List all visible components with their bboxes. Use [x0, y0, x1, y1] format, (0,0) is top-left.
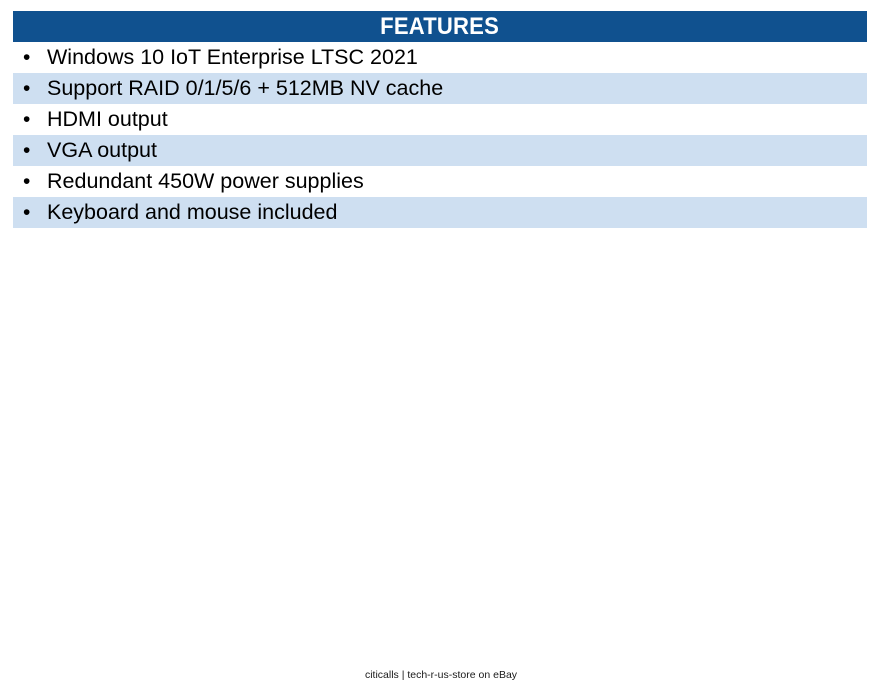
- bullet-icon: •: [22, 47, 47, 68]
- bullet-icon: •: [22, 109, 47, 130]
- feature-text: HDMI output: [47, 108, 168, 131]
- slide-footer: citicalls | tech-r-us-store on eBay: [0, 665, 882, 683]
- table-row: • Windows 10 IoT Enterprise LTSC 2021: [13, 42, 867, 73]
- feature-text: Redundant 450W power supplies: [47, 170, 364, 193]
- page-title: FEATURES: [381, 15, 500, 39]
- feature-text: VGA output: [47, 139, 157, 162]
- features-table-header: FEATURES: [13, 11, 867, 42]
- slide-canvas: FEATURES • Windows 10 IoT Enterprise LTS…: [0, 0, 882, 699]
- table-row: • Redundant 450W power supplies: [13, 166, 867, 197]
- bullet-icon: •: [22, 78, 47, 99]
- table-row: • VGA output: [13, 135, 867, 166]
- features-table: FEATURES • Windows 10 IoT Enterprise LTS…: [13, 11, 867, 228]
- table-row: • Keyboard and mouse included: [13, 197, 867, 228]
- bullet-icon: •: [22, 202, 47, 223]
- feature-text: Windows 10 IoT Enterprise LTSC 2021: [47, 46, 418, 69]
- feature-text: Keyboard and mouse included: [47, 201, 337, 224]
- feature-text: Support RAID 0/1/5/6 + 512MB NV cache: [47, 77, 443, 100]
- table-row: • HDMI output: [13, 104, 867, 135]
- bullet-icon: •: [22, 140, 47, 161]
- bullet-icon: •: [22, 171, 47, 192]
- footer-seller-credit: citicalls | tech-r-us-store on eBay: [365, 669, 517, 681]
- table-row: • Support RAID 0/1/5/6 + 512MB NV cache: [13, 73, 867, 104]
